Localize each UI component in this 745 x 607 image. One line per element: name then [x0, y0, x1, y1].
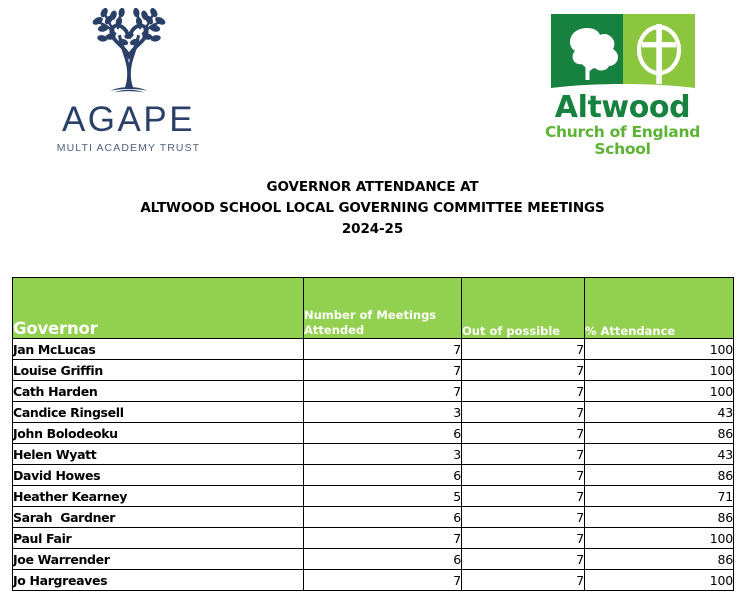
cell-out-of-possible: 7: [462, 339, 585, 360]
cell-governor-name: Helen Wyatt: [13, 444, 304, 465]
cell-governor-name: Paul Fair: [13, 528, 304, 549]
cell-governor-name: Cath Harden: [13, 381, 304, 402]
page-title-line-1: GOVERNOR ATTENDANCE AT: [0, 177, 745, 198]
table-row: Jo Hargreaves77100: [13, 570, 734, 591]
cell-meetings-attended: 7: [304, 570, 462, 591]
cell-percent-attendance: 71: [585, 486, 734, 507]
cell-out-of-possible: 7: [462, 549, 585, 570]
cell-out-of-possible: 7: [462, 507, 585, 528]
cell-governor-name: David Howes: [13, 465, 304, 486]
cell-out-of-possible: 7: [462, 486, 585, 507]
table-header: Governor Number of Meetings Attended Out…: [13, 278, 734, 339]
cell-percent-attendance: 100: [585, 570, 734, 591]
table-row: Candice Ringsell3743: [13, 402, 734, 423]
column-header-out-of-possible: Out of possible: [462, 278, 585, 339]
cell-out-of-possible: 7: [462, 528, 585, 549]
cell-percent-attendance: 43: [585, 444, 734, 465]
cell-governor-name: John Bolodeoku: [13, 423, 304, 444]
cell-percent-attendance: 86: [585, 507, 734, 528]
cell-meetings-attended: 5: [304, 486, 462, 507]
altwood-logo: Altwood Church of England School: [520, 12, 725, 158]
table-row: John Bolodeoku6786: [13, 423, 734, 444]
cell-out-of-possible: 7: [462, 360, 585, 381]
column-header-meetings-attended: Number of Meetings Attended: [304, 278, 462, 339]
agape-subtitle: MULTI ACADEMY TRUST: [36, 142, 221, 154]
attendance-table-container: Governor Number of Meetings Attended Out…: [12, 277, 733, 591]
governor-attendance-table: Governor Number of Meetings Attended Out…: [12, 277, 734, 591]
tree-heart-icon: [83, 8, 175, 100]
table-row: Paul Fair77100: [13, 528, 734, 549]
cell-governor-name: Jo Hargreaves: [13, 570, 304, 591]
cell-governor-name: Joe Warrender: [13, 549, 304, 570]
column-header-percent-attendance: % Attendance: [585, 278, 734, 339]
table-row: Louise Griffin77100: [13, 360, 734, 381]
cell-meetings-attended: 3: [304, 444, 462, 465]
cell-meetings-attended: 7: [304, 528, 462, 549]
cell-meetings-attended: 6: [304, 423, 462, 444]
column-header-meetings-attended-line-1: Number of Meetings Attended: [304, 308, 436, 337]
cell-meetings-attended: 7: [304, 381, 462, 402]
cell-percent-attendance: 86: [585, 465, 734, 486]
table-row: Heather Kearney5771: [13, 486, 734, 507]
cell-out-of-possible: 7: [462, 402, 585, 423]
cell-out-of-possible: 7: [462, 444, 585, 465]
page-title: GOVERNOR ATTENDANCE AT ALTWOOD SCHOOL LO…: [0, 177, 745, 240]
cell-meetings-attended: 7: [304, 360, 462, 381]
cell-percent-attendance: 100: [585, 360, 734, 381]
cell-meetings-attended: 6: [304, 549, 462, 570]
table-row: Sarah Gardner6786: [13, 507, 734, 528]
table-row: Jan McLucas77100: [13, 339, 734, 360]
altwood-subtitle: Church of England School: [520, 124, 725, 158]
table-row: David Howes6786: [13, 465, 734, 486]
cell-out-of-possible: 7: [462, 570, 585, 591]
agape-wordmark: AGAPE: [36, 102, 221, 139]
cell-meetings-attended: 3: [304, 402, 462, 423]
table-body: Jan McLucas77100Louise Griffin77100Cath …: [13, 339, 734, 591]
tree-and-cross-crest-icon: [549, 12, 697, 92]
cell-governor-name: Sarah Gardner: [13, 507, 304, 528]
cell-out-of-possible: 7: [462, 423, 585, 444]
page-title-line-2: ALTWOOD SCHOOL LOCAL GOVERNING COMMITTEE…: [0, 198, 745, 219]
cell-governor-name: Louise Griffin: [13, 360, 304, 381]
cell-percent-attendance: 86: [585, 549, 734, 570]
altwood-wordmark: Altwood: [520, 93, 725, 123]
table-row: Cath Harden77100: [13, 381, 734, 402]
table-row: Joe Warrender6786: [13, 549, 734, 570]
table-row: Helen Wyatt3743: [13, 444, 734, 465]
cell-meetings-attended: 6: [304, 507, 462, 528]
cell-percent-attendance: 86: [585, 423, 734, 444]
cell-percent-attendance: 43: [585, 402, 734, 423]
cell-governor-name: Jan McLucas: [13, 339, 304, 360]
cell-meetings-attended: 6: [304, 465, 462, 486]
logo-band: AGAPE MULTI ACADEMY TRUST: [0, 0, 745, 165]
agape-logo: AGAPE MULTI ACADEMY TRUST: [36, 8, 221, 154]
page-title-line-3: 2024-25: [0, 219, 745, 240]
cell-percent-attendance: 100: [585, 528, 734, 549]
table-header-row: Governor Number of Meetings Attended Out…: [13, 278, 734, 339]
column-header-governor: Governor: [13, 278, 304, 339]
cell-meetings-attended: 7: [304, 339, 462, 360]
cell-out-of-possible: 7: [462, 465, 585, 486]
cell-out-of-possible: 7: [462, 381, 585, 402]
cell-percent-attendance: 100: [585, 339, 734, 360]
cell-governor-name: Heather Kearney: [13, 486, 304, 507]
cell-percent-attendance: 100: [585, 381, 734, 402]
cell-governor-name: Candice Ringsell: [13, 402, 304, 423]
